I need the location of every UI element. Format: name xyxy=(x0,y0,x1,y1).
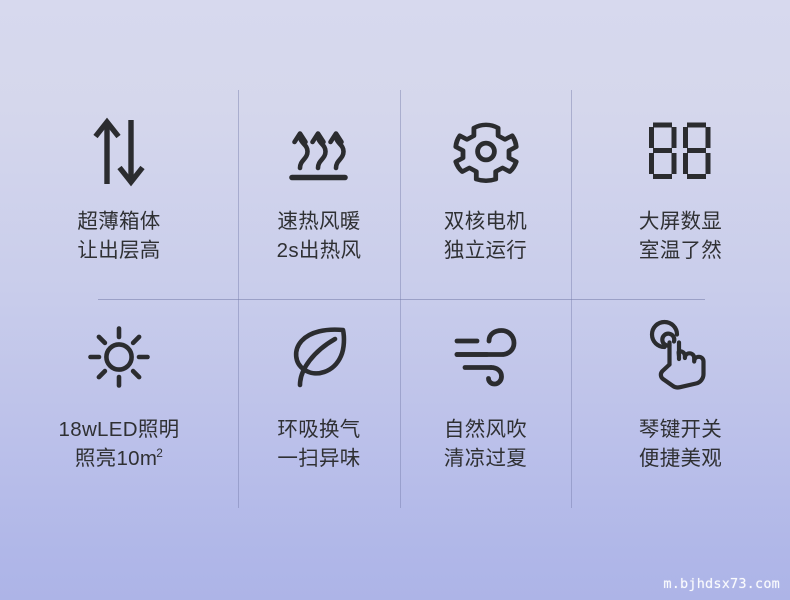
feature-cell-dual-motor: 双核电机 独立运行 xyxy=(400,95,571,299)
feature-caption: 速热风暖 2s出热风 xyxy=(277,207,362,265)
feature-caption: 环吸换气 一扫异味 xyxy=(277,415,360,473)
feature-cell-slim-body: 超薄箱体 让出层高 xyxy=(0,95,238,299)
leaf-icon xyxy=(276,317,362,397)
caption-line-2: 清凉过夏 xyxy=(444,444,527,473)
feature-cell-digital-display: 大屏数显 室温了然 xyxy=(571,95,790,299)
feature-cell-fast-heat: 速热风暖 2s出热风 xyxy=(238,95,400,299)
caption-line-2: 2s出热风 xyxy=(277,236,362,265)
caption-line-2: 照亮10m2 xyxy=(59,444,180,473)
sun-icon xyxy=(76,317,162,397)
caption-line-1: 18wLED照明 xyxy=(59,415,180,444)
caption-line-1: 速热风暖 xyxy=(277,207,362,236)
feature-cell-natural-wind: 自然风吹 清凉过夏 xyxy=(400,299,571,505)
caption-line-2-text: 照亮10m xyxy=(75,447,157,470)
caption-line-1: 超薄箱体 xyxy=(77,207,160,236)
feature-grid: 超薄箱体 让出层高 速热风暖 2s出热风 xyxy=(0,95,790,505)
feature-poster: 超薄箱体 让出层高 速热风暖 2s出热风 xyxy=(0,0,790,600)
feature-cell-piano-switch: 琴键开关 便捷美观 xyxy=(571,299,790,505)
feature-cell-ventilation: 环吸换气 一扫异味 xyxy=(238,299,400,505)
caption-line-1: 自然风吹 xyxy=(444,415,527,444)
heat-waves-icon xyxy=(276,113,362,191)
feature-caption: 琴键开关 便捷美观 xyxy=(639,415,722,473)
caption-line-2: 便捷美观 xyxy=(639,444,722,473)
seven-segment-display-icon xyxy=(638,113,724,191)
caption-line-1: 环吸换气 xyxy=(277,415,360,444)
caption-superscript: 2 xyxy=(156,446,163,460)
wind-icon xyxy=(443,317,529,397)
touch-hand-icon xyxy=(638,317,724,397)
feature-cell-led-lighting: 18wLED照明 照亮10m2 xyxy=(0,299,238,505)
caption-line-2: 让出层高 xyxy=(77,236,160,265)
feature-caption: 大屏数显 室温了然 xyxy=(639,207,722,265)
feature-caption: 超薄箱体 让出层高 xyxy=(77,207,160,265)
caption-line-2: 室温了然 xyxy=(639,236,722,265)
feature-caption: 18wLED照明 照亮10m2 xyxy=(59,415,180,473)
feature-caption: 自然风吹 清凉过夏 xyxy=(444,415,527,473)
caption-line-1: 琴键开关 xyxy=(639,415,722,444)
caption-line-1: 双核电机 xyxy=(444,207,527,236)
site-watermark: m.bjhdsx73.com xyxy=(663,576,780,592)
caption-line-1: 大屏数显 xyxy=(639,207,722,236)
caption-line-2: 独立运行 xyxy=(444,236,527,265)
feature-caption: 双核电机 独立运行 xyxy=(444,207,527,265)
up-down-arrows-icon xyxy=(76,113,162,191)
gear-icon xyxy=(443,113,529,191)
caption-line-2: 一扫异味 xyxy=(277,444,360,473)
